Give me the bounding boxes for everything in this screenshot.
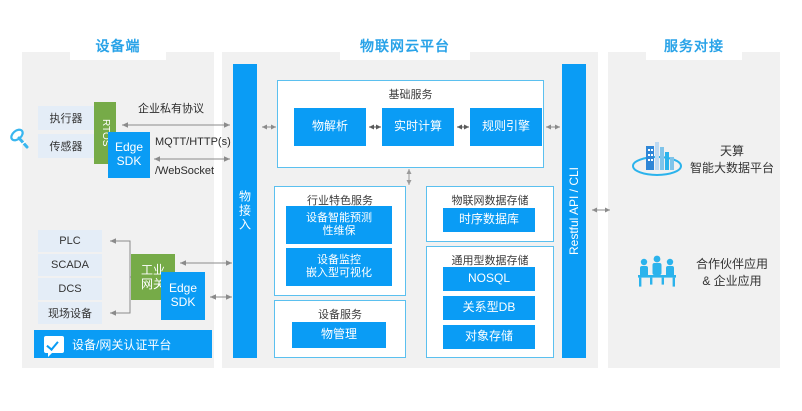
edge-sdk-label-line1: Edge [115, 141, 143, 155]
cable-plug-icon [8, 126, 34, 152]
chip-sensor: 传感器 [38, 134, 94, 158]
protocol-mqtt-label-line1: MQTT/HTTP(s) [155, 136, 231, 148]
edge-sdk2-label-line1: Edge [169, 282, 197, 296]
chip-actuator: 执行器 [38, 106, 94, 130]
bigdata-label-line2: 智能大数据平台 [684, 160, 780, 177]
protocol-private-label: 企业私有协议 [138, 100, 204, 116]
restful-api-label: Restful API / CLI [567, 167, 581, 255]
arrow-base-to-lower [404, 166, 414, 188]
cloud-panel-title: 物联网云平台 [340, 32, 470, 60]
predictive-maintenance-line1: 设备智能预测 [306, 212, 372, 225]
arrow-private-protocol [118, 120, 234, 130]
general-storage-nosql[interactable]: NOSQL [443, 267, 535, 291]
service-panel [608, 52, 780, 368]
device-services-title: 设备服务 [275, 306, 405, 322]
device-gateway-auth-bar[interactable]: 设备/网关认证平台 [34, 330, 212, 358]
iot-storage-title: 物联网数据存储 [427, 192, 553, 208]
industry-service-predictive-maintenance[interactable]: 设备智能预测 性维保 [286, 206, 392, 244]
arrow-gateway-to-hub-upper [176, 258, 236, 268]
partners-label-line1: 合作伙伴应用 [684, 256, 780, 273]
arrow-parse-to-compute [366, 122, 384, 132]
iot-storage-timeseries-db[interactable]: 时序数据库 [443, 208, 535, 232]
predictive-maintenance-line2: 性维保 [323, 225, 356, 238]
base-service-parse[interactable]: 物解析 [294, 108, 366, 146]
edge-sdk-label-line2: SDK [117, 155, 142, 169]
general-storage-object-storage[interactable]: 对象存储 [443, 325, 535, 349]
device-panel-title: 设备端 [70, 32, 166, 60]
bigdata-label-line1: 天算 [684, 143, 780, 160]
protocol-mqtt-label-line2: /WebSocket [155, 165, 214, 177]
base-service-realtime-compute[interactable]: 实时计算 [382, 108, 454, 146]
arrow-api-to-services [588, 205, 614, 215]
edge-sdk-box-device: Edge SDK [108, 132, 150, 178]
service-item-partners[interactable]: 合作伙伴应用 & 企业应用 [630, 250, 780, 296]
arrow-hub-to-base [258, 122, 280, 132]
arrow-gateway-to-hub-lower [206, 292, 236, 302]
iot-hub-label: 物接入 [237, 190, 254, 232]
industry-service-device-monitoring[interactable]: 设备监控 嵌入型可视化 [286, 248, 392, 286]
iot-hub-bar[interactable]: 物接入 [233, 64, 257, 358]
service-panel-title: 服务对接 [646, 32, 742, 60]
general-storage-relational-db[interactable]: 关系型DB [443, 296, 535, 320]
base-service-rule-engine[interactable]: 规则引擎 [470, 108, 542, 146]
service-item-bigdata[interactable]: 天算 智能大数据平台 [630, 136, 780, 184]
chip-scada: SCADA [38, 254, 102, 276]
auth-bar-label: 设备/网关认证平台 [72, 336, 171, 353]
arrow-compute-to-rule [454, 122, 472, 132]
general-storage-title: 通用型数据存储 [427, 252, 553, 268]
chip-plc: PLC [38, 230, 102, 252]
arrow-base-to-api [542, 122, 564, 132]
arrow-mqtt-websocket [150, 154, 234, 164]
check-bubble-icon [44, 336, 64, 353]
edge-sdk2-label-line2: SDK [171, 296, 196, 310]
restful-api-bar[interactable]: Restful API / CLI [562, 64, 586, 358]
partners-label-line2: & 企业应用 [684, 273, 780, 290]
edge-sdk-box-gateway: Edge SDK [161, 272, 205, 320]
chip-field-device: 现场设备 [38, 302, 102, 324]
device-monitoring-line2: 嵌入型可视化 [306, 267, 372, 280]
chip-dcs: DCS [38, 278, 102, 300]
partners-meeting-icon [630, 253, 684, 293]
bigdata-building-icon [630, 138, 684, 182]
device-service-thing-management[interactable]: 物管理 [292, 322, 386, 348]
device-monitoring-line1: 设备监控 [317, 254, 361, 267]
base-services-title: 基础服务 [278, 86, 543, 102]
